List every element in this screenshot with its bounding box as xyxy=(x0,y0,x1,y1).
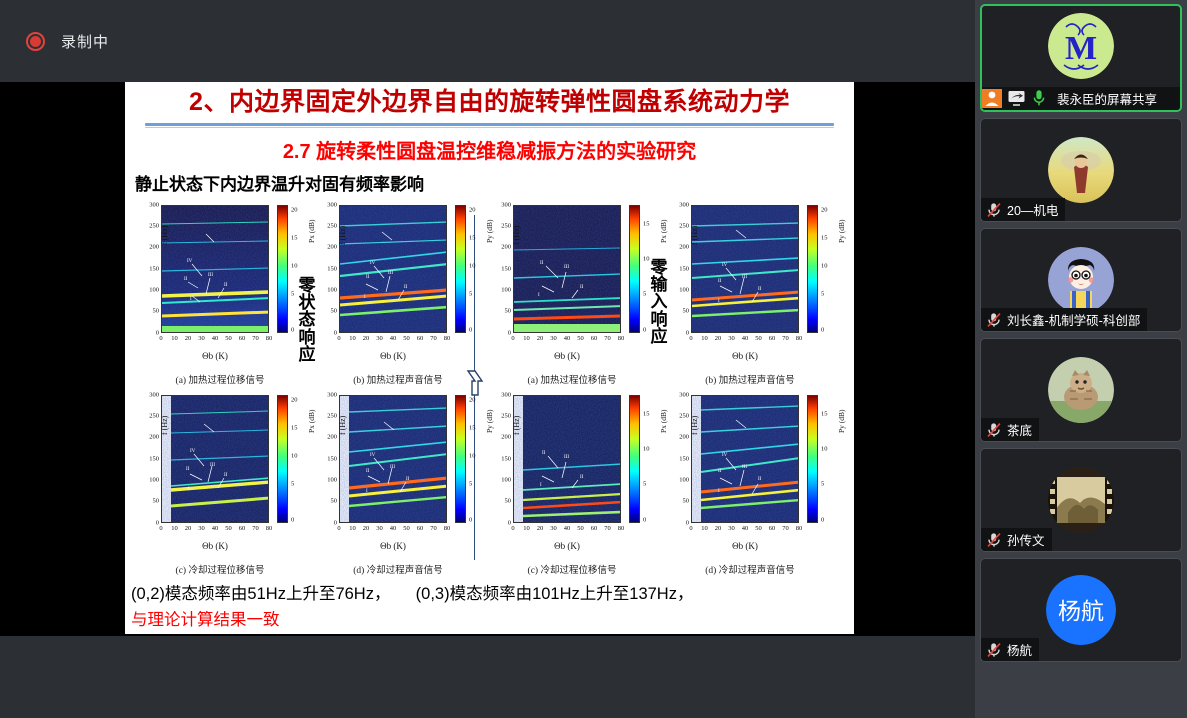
plot-axes: IVIIIII III 300250 200150 10050 0 010 xyxy=(339,395,447,523)
microphone-muted-icon xyxy=(986,202,1002,218)
x-axis-title: Θb (K) xyxy=(513,351,621,361)
svg-text:II: II xyxy=(758,287,762,292)
figure-row-2: IVIIIII III 300250 200150 10050 0 010 xyxy=(131,389,487,577)
plot-axes: IVIIIII III 300250 200150 10050 0 010 xyxy=(161,205,269,333)
svg-text:IV: IV xyxy=(187,259,193,264)
nameplate: 20—机电 xyxy=(981,198,1065,221)
svg-text:III: III xyxy=(564,265,569,270)
plot-axes: IVIIIII III 300250 200150 10050 0 010 xyxy=(339,205,447,333)
figure-caption: (d) 冷却过程声音信号 xyxy=(661,562,839,576)
colorbar xyxy=(277,205,288,333)
microphone-muted-icon xyxy=(986,532,1002,548)
colorbar xyxy=(455,205,466,333)
svg-text:II: II xyxy=(406,477,410,482)
plot-axes: IIIII III 300250 200150 10050 0 010 xyxy=(513,205,621,333)
svg-text:IV: IV xyxy=(370,261,376,266)
participant-tile-3[interactable]: 茶底 xyxy=(980,338,1182,442)
avatar xyxy=(1048,247,1114,313)
svg-text:IV: IV xyxy=(722,263,728,268)
microphone-muted-icon xyxy=(986,312,1002,328)
x-axis-title: Θb (K) xyxy=(691,351,799,361)
slide-section-heading: 静止状态下内边界温升对固有频率影响 xyxy=(135,170,854,195)
spectrogram-image: IVIIIII III xyxy=(691,205,799,333)
figure-panel-right-d: IVIIIII III 300250 200150 10050 0 010 xyxy=(661,389,839,577)
figure-panel-left-d: IVIIIII III 300250 200150 10050 0 010 xyxy=(309,389,487,577)
y-axis-title: f (Hz) xyxy=(338,225,347,244)
figure-caption: (d) 冷却过程声音信号 xyxy=(309,562,487,576)
avatar xyxy=(1048,357,1114,423)
svg-text:III: III xyxy=(208,273,213,278)
conclusion-part-2: (0,3)模态频率由101Hz上升至137Hz， xyxy=(416,585,694,603)
svg-text:II: II xyxy=(540,261,544,266)
figure-panel-left-a: IVIIIII III 300250 200150 10050 0 010 xyxy=(131,199,309,387)
nameplate: 茶底 xyxy=(981,418,1039,441)
colorbar xyxy=(455,395,466,523)
y-axis-title: f (Hz) xyxy=(512,225,521,244)
colorbar-title: Py (dB) xyxy=(837,219,846,243)
figure-caption: (a) 加热过程位移信号 xyxy=(131,372,309,386)
participant-name: 刘长鑫-机制学硕-科创部 xyxy=(1007,310,1140,329)
figure-panel-right-c: IIIII III 300250 200150 10050 0 010 xyxy=(483,389,661,577)
avatar xyxy=(1048,467,1114,533)
svg-text:IV: IV xyxy=(190,449,196,454)
x-axis-title: Θb (K) xyxy=(513,541,621,551)
figure-caption: (b) 加热过程声音信号 xyxy=(309,372,487,386)
svg-text:III: III xyxy=(564,455,569,460)
y-axis-title: f (Hz) xyxy=(512,415,521,434)
microphone-muted-icon xyxy=(986,422,1002,438)
spectrogram-image: IVIIIII III xyxy=(339,205,447,333)
figure-row-2: IIIII III 300250 200150 10050 0 010 xyxy=(483,389,839,577)
figure-panel-right-a: IIIII III 300250 200150 10050 0 010 xyxy=(483,199,661,387)
x-axis-title: Θb (K) xyxy=(161,541,269,551)
title-rule xyxy=(145,123,834,126)
svg-text:II: II xyxy=(184,277,188,282)
avatar: 杨航 xyxy=(1046,575,1116,645)
screen-share-icon xyxy=(1007,89,1027,108)
svg-text:III: III xyxy=(388,271,393,276)
svg-text:II: II xyxy=(224,283,228,288)
spectrogram-image: IVIIIII III xyxy=(161,205,269,333)
meeting-window: 录制中 2、内边界固定外边界自由的旋转弹性圆盘系统动力学 2.7 旋转柔性圆盘温… xyxy=(0,0,1187,718)
conclusion-line-2: 与理论计算结果一致 xyxy=(131,606,850,630)
svg-text:III: III xyxy=(210,463,215,468)
avatar: M xyxy=(1048,13,1114,79)
title-rule-thin xyxy=(145,127,834,128)
svg-text:IV: IV xyxy=(370,453,376,458)
x-axis-title: Θb (K) xyxy=(339,541,447,551)
x-axis-title: Θb (K) xyxy=(161,351,269,361)
spectrogram-image: IVIIIII III xyxy=(161,395,269,523)
participant-name: 茶底 xyxy=(1007,420,1032,439)
conclusion-line-1: (0,2)模态频率由51Hz上升至76Hz， (0,3)模态频率由101Hz上升… xyxy=(131,580,850,604)
plot-axes: IVIIIII III 300250 200150 10050 0 010 xyxy=(691,205,799,333)
group-label-zero-input: 零输入响应 xyxy=(649,259,669,346)
participant-name: 孙传文 xyxy=(1007,530,1045,549)
figure-panel-left-c: IVIIIII III 300250 200150 10050 0 010 xyxy=(131,389,309,577)
participant-tile-5[interactable]: 杨航 杨航 xyxy=(980,558,1182,662)
svg-text:II: II xyxy=(186,467,190,472)
slide-header: 2、内边界固定外边界自由的旋转弹性圆盘系统动力学 2.7 旋转柔性圆盘温控维稳减… xyxy=(125,82,854,164)
colorbar xyxy=(807,205,818,333)
figure-caption: (c) 冷却过程位移信号 xyxy=(131,562,309,576)
participant-tile-1[interactable]: 20—机电 xyxy=(980,118,1182,222)
figure-panel-left-b: IVIIIII III 300250 200150 10050 0 010 xyxy=(309,199,487,387)
avatar xyxy=(1048,137,1114,203)
stage-bottom-bar xyxy=(0,636,975,718)
nameplate: 裴永臣的屏幕共享 xyxy=(982,87,1180,110)
svg-text:M: M xyxy=(1065,30,1097,67)
microphone-muted-icon xyxy=(986,642,1002,658)
participant-name: 杨航 xyxy=(1007,640,1032,659)
colorbar xyxy=(807,395,818,523)
svg-text:IV: IV xyxy=(722,453,728,458)
plot-axes: IIIII III 300250 200150 10050 0 010 xyxy=(513,395,621,523)
spectrogram-image: IIIII III xyxy=(513,205,621,333)
x-axis-title: Θb (K) xyxy=(339,351,447,361)
figure-caption: (a) 加热过程位移信号 xyxy=(483,372,661,386)
group-label-zero-state: 零状态响应 xyxy=(297,277,317,364)
nameplate: 杨航 xyxy=(981,638,1039,661)
x-axis-title: Θb (K) xyxy=(691,541,799,551)
svg-text:II: II xyxy=(542,451,546,456)
plot-axes: IVIIIII III 300250 200150 10050 0 010 xyxy=(161,395,269,523)
svg-text:III: III xyxy=(390,465,395,470)
figure-caption: (c) 冷却过程位移信号 xyxy=(483,562,661,576)
svg-text:III: III xyxy=(742,275,747,280)
shared-screen-stage[interactable]: 2、内边界固定外边界自由的旋转弹性圆盘系统动力学 2.7 旋转柔性圆盘温控维稳减… xyxy=(0,82,975,636)
recording-indicator-icon xyxy=(26,32,45,51)
svg-text:II: II xyxy=(366,469,370,474)
participant-tile-screenshare[interactable]: M 裴永臣的屏幕共享 xyxy=(980,4,1182,112)
avatar-initials: 杨航 xyxy=(1058,598,1104,624)
svg-text:II: II xyxy=(718,469,722,474)
microphone-icon xyxy=(1032,89,1052,108)
participant-tile-2[interactable]: 刘长鑫-机制学硕-科创部 xyxy=(980,228,1182,332)
slide-title: 2、内边界固定外边界自由的旋转弹性圆盘系统动力学 xyxy=(133,88,846,117)
presentation-slide: 2、内边界固定外边界自由的旋转弹性圆盘系统动力学 2.7 旋转柔性圆盘温控维稳减… xyxy=(125,82,854,634)
svg-text:III: III xyxy=(742,465,747,470)
figure-grid: IVIIIII III 300250 200150 10050 0 010 xyxy=(125,197,854,579)
spectrogram-image: IVIIIII III xyxy=(339,395,447,523)
nameplate: 刘长鑫-机制学硕-科创部 xyxy=(981,308,1147,331)
participant-name: 裴永臣的屏幕共享 xyxy=(1057,89,1157,108)
svg-text:II: II xyxy=(718,279,722,284)
svg-text:II: II xyxy=(580,285,584,290)
y-axis-title: f (Hz) xyxy=(338,415,347,434)
recording-bar: 录制中 xyxy=(0,0,975,82)
spectrogram-image: IVIIIII III xyxy=(691,395,799,523)
figure-group-zero-input: IIIII III 300250 200150 10050 0 010 xyxy=(483,199,839,577)
svg-text:II: II xyxy=(224,473,228,478)
y-axis-title: f (Hz) xyxy=(690,415,699,434)
participant-tile-4[interactable]: 孙传文 xyxy=(980,448,1182,552)
y-axis-title: f (Hz) xyxy=(160,225,169,244)
y-axis-title: f (Hz) xyxy=(160,415,169,434)
colorbar xyxy=(277,395,288,523)
plot-axes: IVIIIII III 300250 200150 10050 0 010 xyxy=(691,395,799,523)
person-icon xyxy=(982,89,1002,108)
svg-text:II: II xyxy=(366,275,370,280)
figure-group-zero-state: IVIIIII III 300250 200150 10050 0 010 xyxy=(131,199,487,577)
participant-rail[interactable]: M 裴永臣的屏幕共享 xyxy=(975,0,1187,718)
y-axis-title: f (Hz) xyxy=(690,225,699,244)
recording-label: 录制中 xyxy=(61,31,109,52)
conclusion-part-1: (0,2)模态频率由51Hz上升至76Hz， xyxy=(131,585,390,603)
figure-caption: (b) 加热过程声音信号 xyxy=(661,372,839,386)
colorbar xyxy=(629,395,640,523)
figure-panel-right-b: IVIIIII III 300250 200150 10050 0 010 xyxy=(661,199,839,387)
spectrogram-image: IIIII III xyxy=(513,395,621,523)
slide-subtitle: 2.7 旋转柔性圆盘温控维稳减振方法的实验研究 xyxy=(133,135,846,164)
colorbar xyxy=(629,205,640,333)
svg-text:II: II xyxy=(580,475,584,480)
conclusion-block: (0,2)模态频率由51Hz上升至76Hz， (0,3)模态频率由101Hz上升… xyxy=(131,580,850,630)
colorbar-title: Py (dB) xyxy=(837,409,846,433)
svg-text:II: II xyxy=(404,285,408,290)
svg-text:II: II xyxy=(758,477,762,482)
participant-name: 20—机电 xyxy=(1007,200,1058,219)
nameplate: 孙传文 xyxy=(981,528,1052,551)
